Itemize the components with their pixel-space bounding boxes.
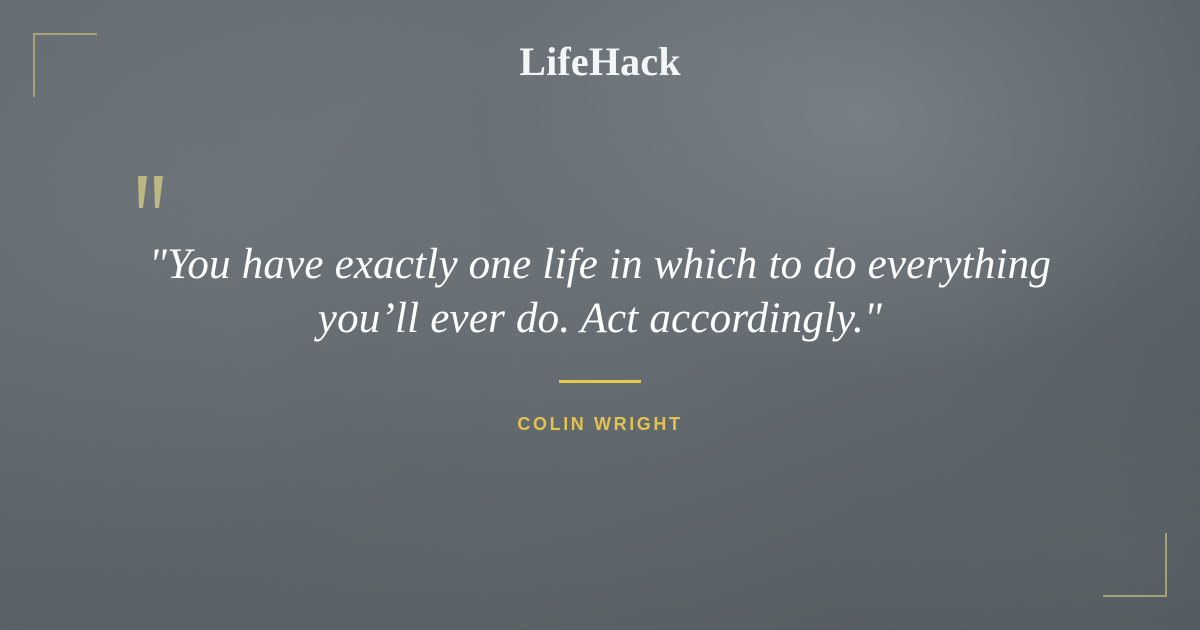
quote-card: LifeHack "You have exactly one life in w… [0, 0, 1200, 630]
divider [0, 380, 1200, 383]
quote-mark-icon [132, 174, 176, 218]
quote-author: COLIN WRIGHT [0, 414, 1200, 435]
divider-line [559, 380, 641, 383]
quote-text: "You have exactly one life in which to d… [100, 238, 1100, 346]
brand-logo: LifeHack [0, 40, 1200, 84]
